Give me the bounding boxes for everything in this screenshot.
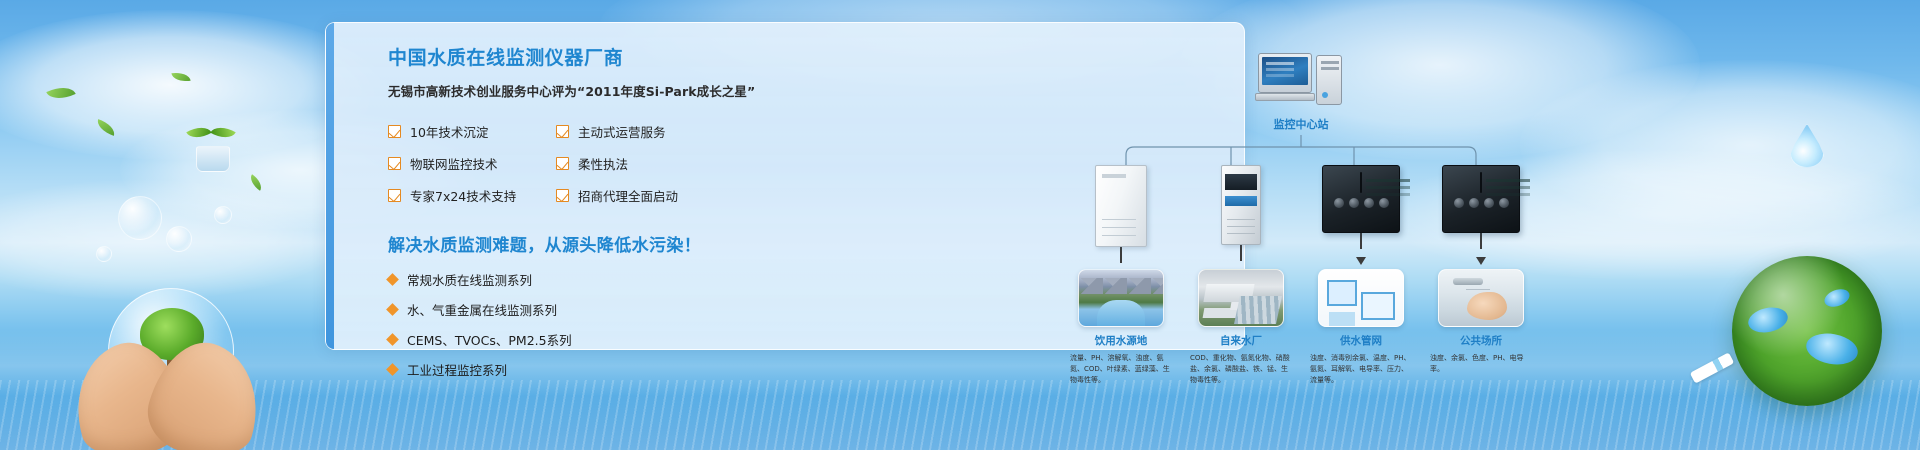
checkbox-checked-icon bbox=[556, 125, 569, 138]
scenario-card: 公共场所 浊度、余氯、色度、PH、电导率。 bbox=[1426, 269, 1536, 386]
controller-buttons bbox=[1449, 198, 1513, 208]
feature-item: 物联网监控技术 bbox=[388, 154, 556, 173]
pc-tower-icon bbox=[1316, 55, 1342, 105]
arrow-stem bbox=[1360, 233, 1362, 249]
device-row bbox=[1066, 165, 1536, 279]
bubble-decoration bbox=[166, 226, 192, 252]
controller-button bbox=[1484, 198, 1494, 208]
keyboard-icon bbox=[1255, 93, 1315, 101]
water-droplet-icon bbox=[1790, 124, 1824, 168]
scenario-card: 饮用水源地 流量、PH、溶解氧、浊度、氨氮、COD、叶绿素、蓝绿藻、生物毒性等。 bbox=[1066, 269, 1176, 386]
product-line-list: 常规水质在线监测系列 水、气重金属在线监测系列 CEMS、TVOCs、PM2.5… bbox=[388, 270, 728, 379]
controller-lcd bbox=[1480, 172, 1482, 193]
product-line-label: 工业过程监控系列 bbox=[407, 360, 507, 379]
checkbox-checked-icon bbox=[556, 157, 569, 170]
device-node bbox=[1066, 165, 1176, 279]
scenario-photo-water-plant bbox=[1198, 269, 1284, 327]
feature-label: 物联网监控技术 bbox=[410, 154, 498, 173]
product-line-label: 水、气重金属在线监测系列 bbox=[407, 300, 557, 319]
hands-holding-tree-illustration bbox=[78, 296, 268, 450]
bubble-decoration bbox=[214, 206, 232, 224]
banner-stage: 中国水质在线监测仪器厂商 无锡市高新技术创业服务中心评为“2011年度Si-Pa… bbox=[0, 0, 1920, 450]
page-title: 中国水质在线监测仪器厂商 bbox=[388, 43, 728, 70]
scenario-card: 供水管网 浊度、消毒别余氯、温度、PH、氨氮、耳解氧、电导率、压力、流量等。 bbox=[1306, 269, 1416, 386]
product-line-label: 常规水质在线监测系列 bbox=[407, 270, 532, 289]
rack-blue-band bbox=[1225, 196, 1257, 206]
content-panel: 中国水质在线监测仪器厂商 无锡市高新技术创业服务中心评为“2011年度Si-Pa… bbox=[325, 22, 1245, 350]
green-earth-globe bbox=[1732, 256, 1882, 406]
system-topology-diagram: 监控中心站 bbox=[1066, 47, 1536, 367]
sprout-pot-icon bbox=[196, 146, 230, 172]
scenario-title: 饮用水源地 bbox=[1066, 333, 1176, 348]
controller-button bbox=[1469, 198, 1479, 208]
sprout-leaf-icon bbox=[186, 121, 212, 143]
scenario-card: 自来水厂 COD、重化物、氨氮化物、硝酸盐、余氯、磷酸盐、铁、锰、生物毒性等。 bbox=[1186, 269, 1296, 386]
section-headline: 解决水质监测难题，从源头降低水污染！ bbox=[388, 231, 728, 256]
device-node bbox=[1186, 165, 1296, 279]
feature-label: 招商代理全面启动 bbox=[578, 186, 678, 205]
monitor-icon bbox=[1258, 53, 1312, 93]
scenario-description: 浊度、余氯、色度、PH、电导率。 bbox=[1426, 353, 1536, 375]
scenario-title: 供水管网 bbox=[1306, 333, 1416, 348]
arrow-down-icon bbox=[1356, 257, 1366, 265]
lake-shape bbox=[1822, 286, 1852, 310]
checkbox-checked-icon bbox=[388, 189, 401, 202]
feature-item: 招商代理全面启动 bbox=[556, 186, 736, 205]
controller-button bbox=[1454, 198, 1464, 208]
device-node bbox=[1426, 165, 1536, 279]
black-panel-controller-icon bbox=[1322, 165, 1400, 233]
controller-button bbox=[1379, 198, 1389, 208]
feature-item: 专家7x24技术支持 bbox=[388, 186, 556, 205]
page-subtitle: 无锡市高新技术创业服务中心评为“2011年度Si-Park成长之星” bbox=[388, 81, 728, 100]
scenario-title: 公共场所 bbox=[1426, 333, 1536, 348]
bubble-decoration bbox=[118, 196, 162, 240]
checkbox-checked-icon bbox=[388, 157, 401, 170]
list-item: 工业过程监控系列 bbox=[388, 360, 728, 379]
scenario-photo-drinking-water-source bbox=[1078, 269, 1164, 327]
feature-item: 10年技术沉淀 bbox=[388, 122, 556, 141]
cloud-decoration bbox=[0, 10, 380, 160]
arrow-stem bbox=[1480, 233, 1482, 249]
controller-buttons bbox=[1329, 198, 1393, 208]
leaf-icon bbox=[46, 81, 75, 105]
computer-icon bbox=[1258, 53, 1344, 109]
list-item: 常规水质在线监测系列 bbox=[388, 270, 728, 289]
feature-label: 柔性执法 bbox=[578, 154, 628, 173]
cloud-decoration bbox=[1520, 60, 1920, 230]
leaf-icon bbox=[171, 71, 190, 83]
bubble-decoration bbox=[96, 246, 112, 262]
feature-label: 专家7x24技术支持 bbox=[410, 186, 516, 205]
feature-label: 10年技术沉淀 bbox=[410, 122, 488, 141]
black-panel-controller-icon bbox=[1442, 165, 1520, 233]
panel-left-column: 中国水质在线监测仪器厂商 无锡市高新技术创业服务中心评为“2011年度Si-Pa… bbox=[388, 43, 728, 390]
diamond-bullet-icon bbox=[386, 363, 399, 376]
feature-item: 柔性执法 bbox=[556, 154, 736, 173]
diamond-bullet-icon bbox=[386, 333, 399, 346]
scenario-description: 流量、PH、溶解氧、浊度、氨氮、COD、叶绿素、蓝绿藻、生物毒性等。 bbox=[1066, 353, 1176, 386]
checkbox-checked-icon bbox=[556, 189, 569, 202]
white-cabinet-analyzer-icon bbox=[1095, 165, 1147, 247]
lake-shape bbox=[1804, 330, 1860, 369]
feature-label: 主动式运营服务 bbox=[578, 122, 666, 141]
controller-button bbox=[1364, 198, 1374, 208]
scenario-title: 自来水厂 bbox=[1186, 333, 1296, 348]
controller-button bbox=[1499, 198, 1509, 208]
list-item: CEMS、TVOCs、PM2.5系列 bbox=[388, 330, 728, 349]
scenario-photo-public-place bbox=[1438, 269, 1524, 327]
controller-button bbox=[1349, 198, 1359, 208]
scenario-description: COD、重化物、氨氮化物、硝酸盐、余氯、磷酸盐、铁、锰、生物毒性等。 bbox=[1186, 353, 1296, 386]
monitor-screen bbox=[1262, 57, 1308, 85]
feature-checklist: 10年技术沉淀 主动式运营服务 物联网监控技术 柔性执法 专家7x24技术支持 bbox=[388, 122, 728, 205]
controller-lcd bbox=[1360, 172, 1362, 193]
lake-shape bbox=[1746, 304, 1790, 336]
monitoring-center-node: 监控中心站 bbox=[1246, 53, 1356, 132]
arrow-down-icon bbox=[1476, 257, 1486, 265]
center-node-label: 监控中心站 bbox=[1246, 116, 1356, 132]
arrow-stem bbox=[1240, 245, 1242, 261]
scenario-description: 浊度、消毒别余氯、温度、PH、氨氮、耳解氧、电导率、压力、流量等。 bbox=[1306, 353, 1416, 386]
diamond-bullet-icon bbox=[386, 273, 399, 286]
diamond-bullet-icon bbox=[386, 303, 399, 316]
scenario-row: 饮用水源地 流量、PH、溶解氧、浊度、氨氮、COD、叶绿素、蓝绿藻、生物毒性等。… bbox=[1066, 269, 1536, 386]
scenario-photo-pipe-network bbox=[1318, 269, 1404, 327]
arrow-stem bbox=[1120, 247, 1122, 263]
device-node bbox=[1306, 165, 1416, 279]
controller-button bbox=[1334, 198, 1344, 208]
sprout-leaf-icon bbox=[210, 121, 236, 143]
leaf-icon bbox=[247, 174, 265, 191]
grey-rack-analyzer-icon bbox=[1221, 165, 1261, 245]
checkbox-checked-icon bbox=[388, 125, 401, 138]
list-item: 水、气重金属在线监测系列 bbox=[388, 300, 728, 319]
product-line-label: CEMS、TVOCs、PM2.5系列 bbox=[407, 330, 572, 349]
rack-display bbox=[1225, 174, 1257, 190]
leaf-icon bbox=[95, 119, 117, 136]
feature-item: 主动式运营服务 bbox=[556, 122, 736, 141]
